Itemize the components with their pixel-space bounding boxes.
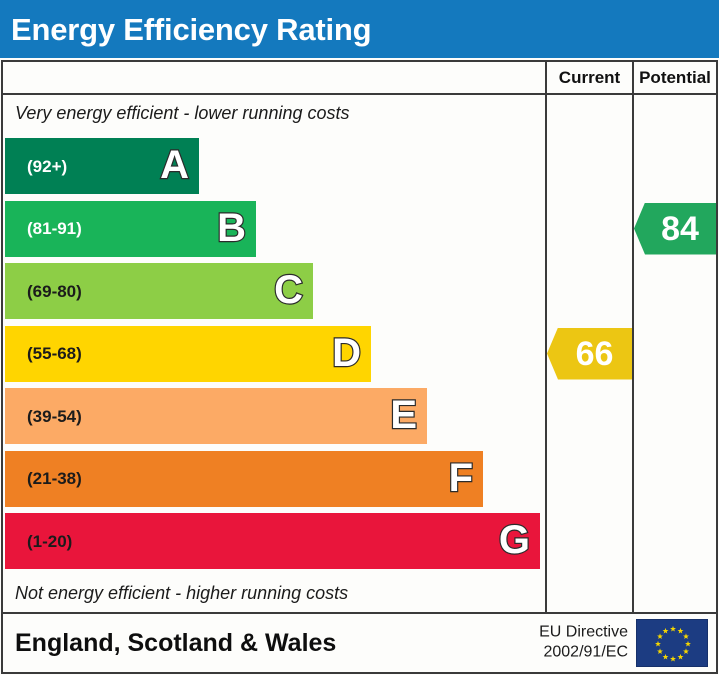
band-letter-e: E: [390, 395, 417, 435]
page-title: Energy Efficiency Rating: [0, 14, 371, 45]
directive-line-1: EU Directive: [539, 623, 628, 643]
eu-flag-icon: [636, 619, 708, 667]
energy-efficiency-rating-chart: Energy Efficiency Rating Current Potenti…: [0, 0, 719, 675]
chart-footer: England, Scotland & Wales EU Directive 2…: [1, 614, 718, 674]
band-letter-c: C: [274, 270, 303, 310]
footer-directive: EU Directive 2002/91/EC: [539, 623, 628, 664]
band-range-a: (92+): [5, 158, 67, 175]
directive-line-2: 2002/91/EC: [539, 643, 628, 663]
rating-band-a: (92+)A: [5, 138, 199, 194]
rating-marker-value-current: 66: [566, 337, 614, 371]
band-range-d: (55-68): [5, 345, 82, 362]
band-letter-d: D: [332, 333, 361, 373]
column-header-potential: Potential: [632, 62, 716, 93]
band-range-g: (1-20): [5, 533, 72, 550]
rating-marker-current: 66: [547, 328, 632, 380]
band-range-c: (69-80): [5, 283, 82, 300]
band-letter-f: F: [449, 458, 473, 498]
band-range-e: (39-54): [5, 408, 82, 425]
band-range-b: (81-91): [5, 220, 82, 237]
band-letter-g: G: [499, 520, 530, 560]
rating-band-f: (21-38)F: [5, 451, 483, 507]
band-letter-b: B: [217, 208, 246, 248]
rating-bands: (92+)A(81-91)B(69-80)C(55-68)D(39-54)E(2…: [5, 138, 543, 578]
rating-band-g: (1-20)G: [5, 513, 540, 569]
column-header-current: Current: [545, 62, 632, 93]
column-divider-potential: [632, 95, 634, 612]
column-header-row: Current Potential: [3, 62, 716, 95]
rating-marker-potential: 84: [634, 203, 716, 255]
rating-band-c: (69-80)C: [5, 263, 313, 319]
caption-not-efficient: Not energy efficient - higher running co…: [15, 578, 535, 608]
rating-band-d: (55-68)D: [5, 326, 371, 382]
rating-table: Current Potential Very energy efficient …: [1, 60, 718, 614]
column-divider-current: [545, 95, 547, 612]
chart-title-bar: Energy Efficiency Rating: [0, 0, 719, 58]
rating-marker-value-potential: 84: [651, 212, 699, 246]
rating-band-b: (81-91)B: [5, 201, 256, 257]
caption-very-efficient: Very energy efficient - lower running co…: [15, 98, 535, 128]
footer-region-label: England, Scotland & Wales: [3, 629, 336, 658]
band-range-f: (21-38): [5, 470, 82, 487]
rating-band-e: (39-54)E: [5, 388, 427, 444]
band-letter-a: A: [160, 145, 189, 185]
